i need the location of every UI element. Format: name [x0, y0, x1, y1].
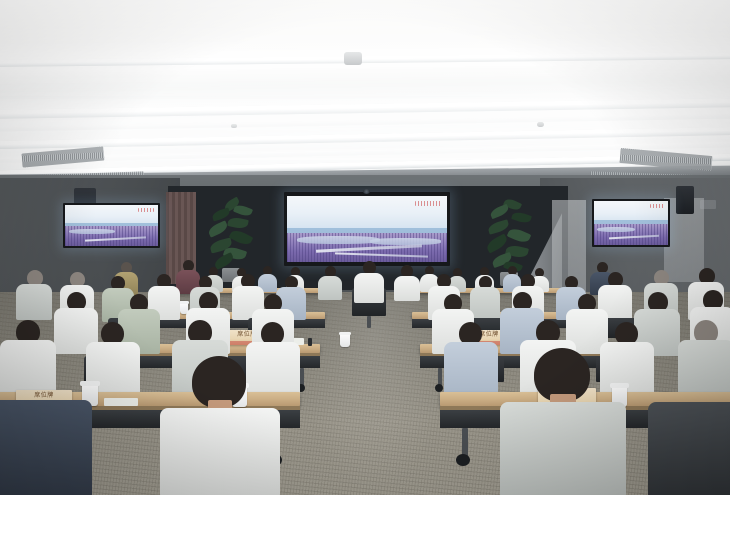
audience-member [16, 270, 52, 320]
audience-member-foreground [500, 348, 626, 495]
microphone [308, 338, 312, 346]
ceiling-seam [0, 96, 730, 99]
audience-member [318, 266, 342, 300]
smoke-detector-icon [537, 122, 544, 127]
wall-sign [700, 200, 716, 209]
smoke-detector-icon [231, 124, 237, 128]
screen-watermark [415, 201, 441, 206]
conference-room-photo: 席位牌 席位牌 [0, 0, 730, 495]
table-caster [456, 454, 470, 466]
screen-watermark [138, 208, 154, 212]
audience-member [0, 320, 56, 400]
wall-speaker [676, 186, 694, 214]
audience-member-foreground [648, 402, 730, 495]
tea-cup [340, 334, 350, 347]
screen-camera-icon [363, 189, 370, 194]
smoke-detector-icon [344, 52, 362, 65]
screen-watermark [650, 204, 664, 208]
audience-member [678, 320, 730, 402]
left-screen-content [65, 205, 158, 246]
right-screen-content [594, 201, 668, 245]
right-side-screen [592, 199, 670, 247]
name-placard-text: 席位牌 [16, 393, 72, 399]
main-led-screen [284, 192, 450, 266]
audience-member-foreground [0, 400, 92, 495]
main-screen-content [287, 196, 447, 262]
document-paper [104, 398, 138, 406]
audience-member [470, 276, 500, 320]
table-caster [435, 384, 443, 392]
audience-member [444, 322, 498, 400]
presenter [354, 261, 384, 303]
center-aisle [300, 300, 450, 495]
audience-member [394, 265, 420, 301]
audience-member-foreground [160, 356, 280, 495]
left-side-screen [63, 203, 160, 248]
